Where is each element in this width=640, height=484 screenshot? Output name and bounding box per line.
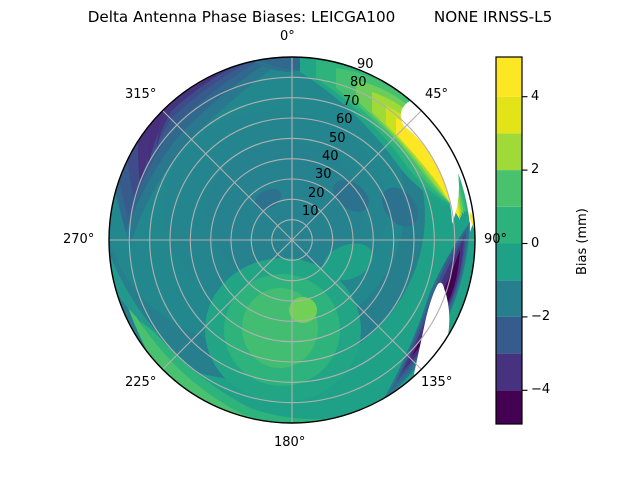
cbar-band-0 [496,390,522,427]
radial-label-40: 40 [322,150,339,163]
cbar-band-6 [496,170,522,207]
radial-label-90: 90 [357,58,374,71]
figure-canvas: Delta Antenna Phase Biases: LEICGA100 NO… [0,0,640,480]
radial-label-80: 80 [350,76,367,89]
radial-label-20: 20 [308,187,325,200]
azimuth-label-270: 270° [63,233,94,246]
colorbar-ticklabel-neg2: −2 [531,310,550,323]
azimuth-label-135: 135° [421,376,452,389]
cbar-band-1 [496,354,522,391]
cbar-band-7 [496,133,522,170]
radial-label-60: 60 [336,113,353,126]
cbar-band-3 [496,280,522,317]
colorbar-ticklabel-4: 4 [531,90,539,103]
azimuth-label-225: 225° [125,376,156,389]
azimuth-label-90: 90° [484,233,507,246]
colorbar-axis-title: Bias (mm) [575,208,590,275]
cbar-band-9 [496,57,522,97]
azimuth-label-315: 315° [125,88,156,101]
azimuth-label-180: 180° [274,436,305,449]
colorbar-ticklabel-neg4: −4 [531,383,550,396]
polar-plot-area: 0° 45° 90° 135° 180° 225° 270° 315° 10 2… [0,0,640,480]
radial-label-50: 50 [329,132,346,145]
colorbar-ticklabel-2: 2 [531,163,539,176]
azimuth-label-0: 0° [280,30,295,43]
radial-label-30: 30 [315,168,332,181]
radial-label-70: 70 [343,95,360,108]
azimuth-label-45: 45° [425,88,448,101]
polar-grid [109,57,475,423]
colorbar-ticks [522,97,528,391]
cbar-band-4 [496,244,522,281]
cbar-band-8 [496,97,522,134]
radial-label-10: 10 [302,205,319,218]
colorbar-ticklabel-0: 0 [531,237,539,250]
cbar-band-2 [496,317,522,354]
skyplot-svg [0,0,640,480]
